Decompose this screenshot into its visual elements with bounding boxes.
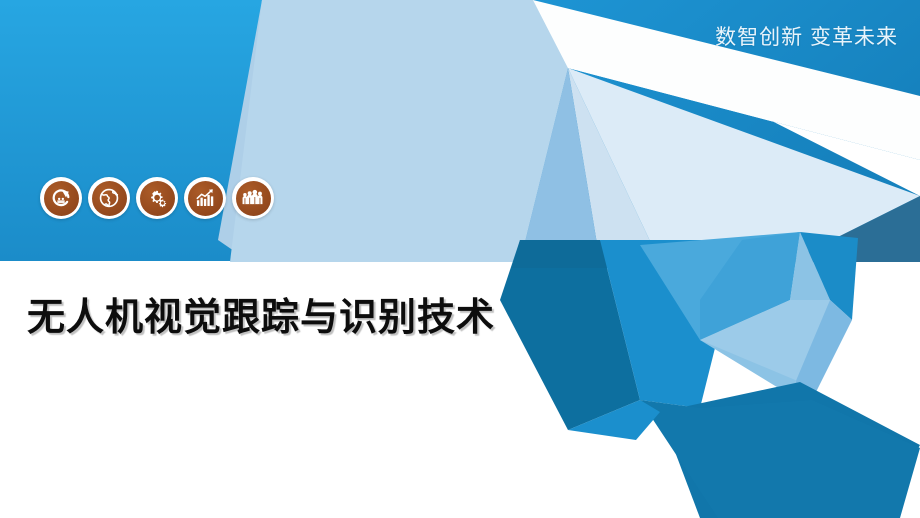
shard-pale-large-b <box>230 0 568 262</box>
icon-badge-gears[interactable] <box>136 177 178 219</box>
icon-disc <box>92 181 127 216</box>
slide-canvas: 数智创新 变革未来 <box>0 0 920 518</box>
globe-icon <box>98 187 120 209</box>
page-title: 无人机视觉跟踪与识别技术 <box>27 297 495 341</box>
icon-strip <box>40 177 274 219</box>
icon-badge-globe[interactable] <box>88 177 130 219</box>
icon-disc <box>44 181 79 216</box>
shard-deep-left-top <box>512 240 612 268</box>
icon-badge-bar-chart[interactable] <box>184 177 226 219</box>
icon-badge-refresh-arrow[interactable] <box>40 177 82 219</box>
bar-chart-icon <box>194 187 216 209</box>
icon-disc <box>236 181 271 216</box>
background-artwork <box>0 0 920 518</box>
icon-disc <box>140 181 175 216</box>
tagline: 数智创新 变革未来 <box>715 27 898 48</box>
refresh-arrow-icon <box>50 187 72 209</box>
people-group-icon <box>242 187 264 209</box>
icon-disc <box>188 181 223 216</box>
gears-icon <box>146 187 168 209</box>
icon-badge-people-group[interactable] <box>232 177 274 219</box>
